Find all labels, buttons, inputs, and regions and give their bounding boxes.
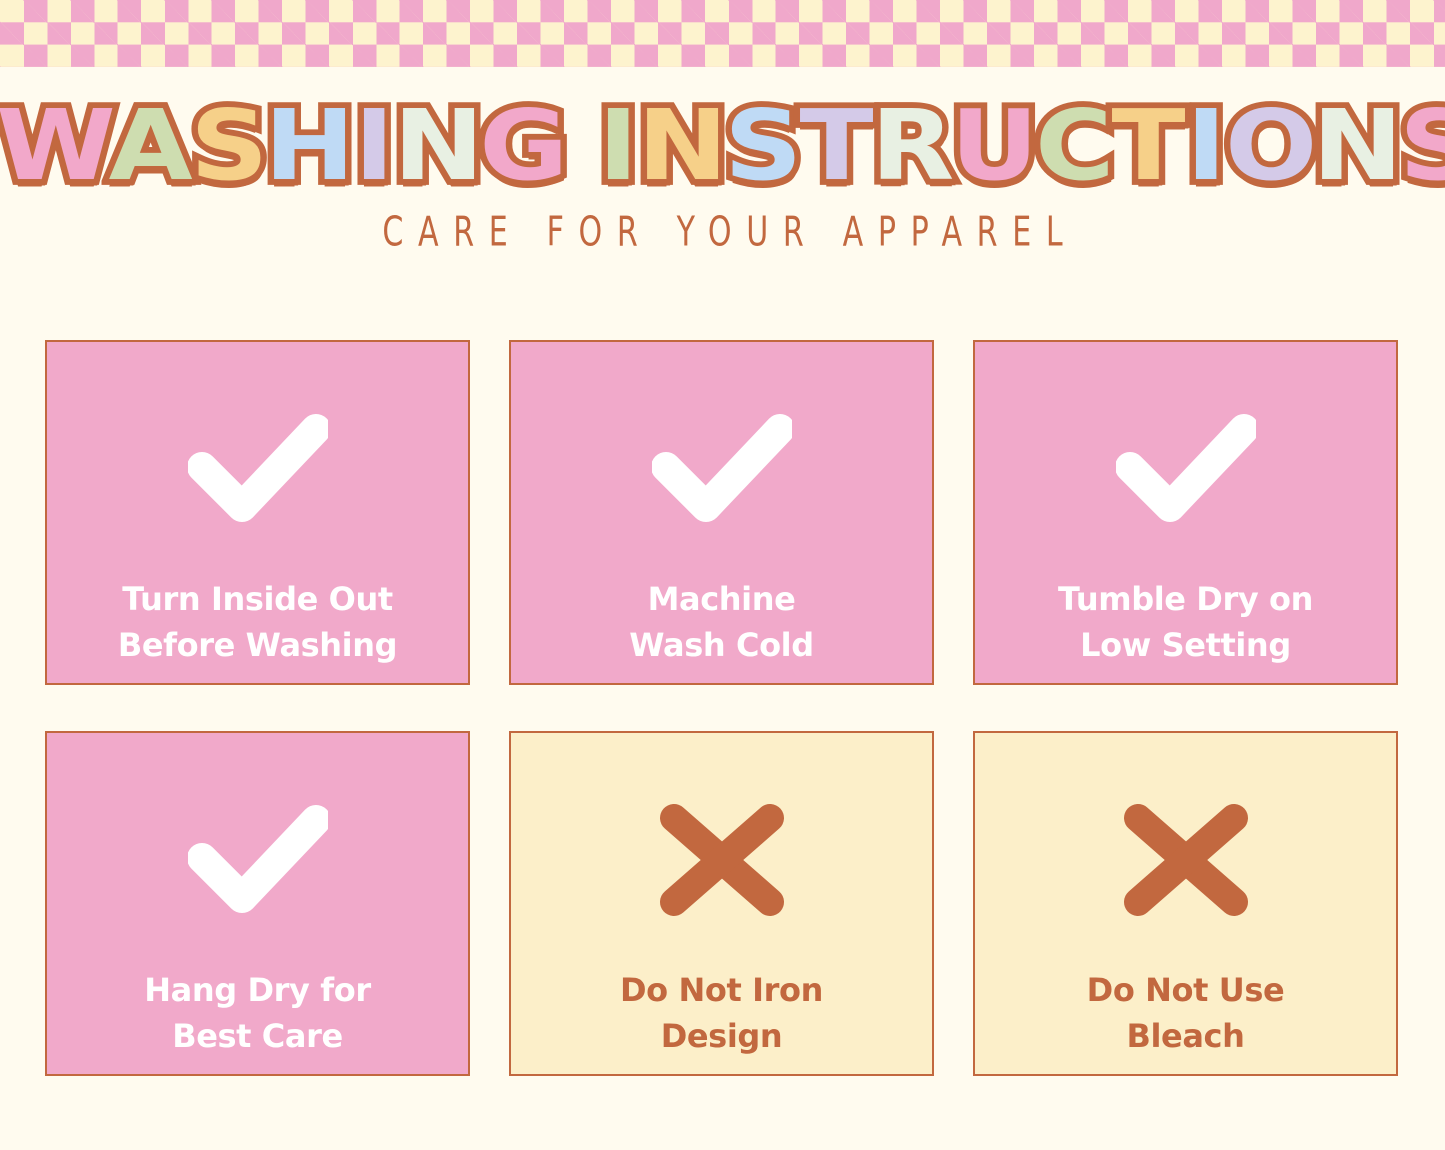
card-label: Turn Inside OutBefore Washing — [118, 524, 397, 669]
card-label-line1: Turn Inside Out — [122, 580, 393, 618]
title-letter: S — [190, 97, 267, 195]
card-icon — [1116, 805, 1256, 915]
cross-icon — [1116, 800, 1256, 920]
title-word: INSTRUCTIONS — [596, 103, 1445, 195]
card-icon — [652, 805, 792, 915]
title-letter: O — [1225, 97, 1316, 195]
card-label-line1: Machine — [648, 580, 796, 618]
card-label: Do Not UseBleach — [1087, 915, 1285, 1060]
care-card[interactable]: Do Not IronDesign — [509, 731, 934, 1076]
care-card[interactable]: Do Not UseBleach — [973, 731, 1398, 1076]
card-icon — [1116, 414, 1256, 524]
card-label-line1: Hang Dry for — [144, 971, 370, 1009]
header: WASHINGINSTRUCTIONS CARE FOR YOUR APPARE… — [0, 67, 1445, 251]
title-letter: N — [637, 97, 727, 195]
check-icon — [652, 409, 792, 529]
card-label-line1: Tumble Dry on — [1058, 580, 1313, 618]
title-letter: N — [393, 97, 483, 195]
check-icon — [188, 409, 328, 529]
title-letter: C — [1035, 97, 1114, 195]
care-card[interactable]: MachineWash Cold — [509, 340, 934, 685]
card-icon — [652, 414, 792, 524]
card-label-line1: Do Not Use — [1087, 971, 1285, 1009]
title-word: WASHING — [0, 103, 566, 195]
card-icon — [188, 414, 328, 524]
title-letter: N — [1312, 97, 1402, 195]
title-letter: H — [264, 97, 354, 195]
title-letter: I — [1186, 97, 1225, 195]
title-letter: A — [109, 97, 192, 195]
card-label-line2: Best Care — [172, 1017, 343, 1055]
check-icon — [1116, 409, 1256, 529]
card-label-line2: Wash Cold — [629, 626, 813, 664]
title-letter: W — [0, 97, 115, 195]
card-label-line2: Design — [661, 1017, 783, 1055]
care-card[interactable]: Hang Dry forBest Care — [45, 731, 470, 1076]
check-icon — [188, 800, 328, 920]
title-letter: T — [1112, 97, 1185, 195]
card-label: MachineWash Cold — [629, 524, 813, 669]
title-letter: T — [800, 97, 873, 195]
title-letter: R — [871, 97, 953, 195]
title-letter: I — [354, 97, 393, 195]
care-card-grid: Turn Inside OutBefore WashingMachineWash… — [45, 340, 1399, 1076]
title-letter: S — [724, 97, 801, 195]
card-label-line2: Low Setting — [1080, 626, 1291, 664]
title-letter: I — [598, 97, 637, 195]
title-letter: U — [950, 97, 1037, 195]
card-label-line2: Before Washing — [118, 626, 397, 664]
card-label-line1: Do Not Iron — [620, 971, 823, 1009]
card-label-line2: Bleach — [1126, 1017, 1244, 1055]
card-icon — [188, 805, 328, 915]
card-label: Do Not IronDesign — [620, 915, 823, 1060]
page-subtitle: CARE FOR YOUR APPAREL — [101, 190, 1344, 256]
page-title: WASHINGINSTRUCTIONS — [0, 67, 1445, 195]
title-letter: G — [479, 97, 567, 195]
card-label: Hang Dry forBest Care — [144, 915, 370, 1060]
title-letter: S — [1399, 97, 1445, 195]
card-label: Tumble Dry onLow Setting — [1058, 524, 1313, 669]
care-card[interactable]: Tumble Dry onLow Setting — [973, 340, 1398, 685]
care-card[interactable]: Turn Inside OutBefore Washing — [45, 340, 470, 685]
checkerboard-top-band — [0, 0, 1445, 67]
cross-icon — [652, 800, 792, 920]
